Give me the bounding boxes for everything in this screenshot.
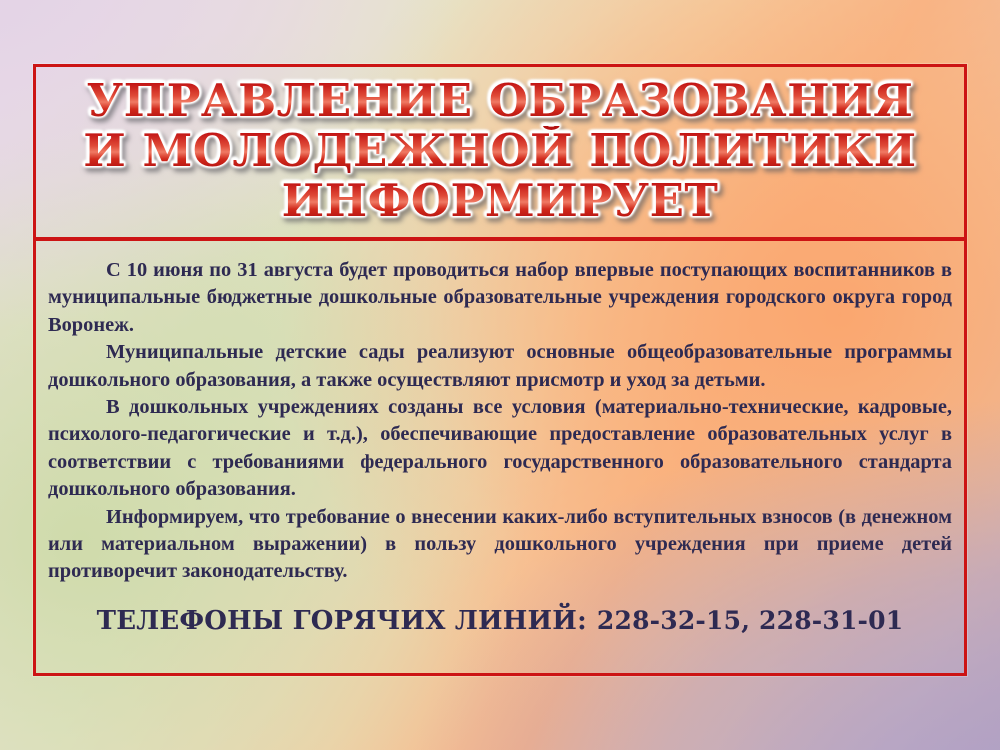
poster-outer-frame: УПРАВЛЕНИЕ ОБРАЗОВАНИЯ И МОЛОДЕЖНОЙ ПОЛИ…: [33, 64, 967, 676]
poster-title-line-2: И МОЛОДЕЖНОЙ ПОЛИТИКИ: [83, 126, 916, 176]
poster-body: С 10 июня по 31 августа будет проводитьс…: [36, 245, 964, 673]
hotline-row: ТЕЛЕФОНЫ ГОРЯЧИХ ЛИНИЙ:228-32-15, 228-31…: [48, 606, 952, 636]
poster-title-line-1: УПРАВЛЕНИЕ ОБРАЗОВАНИЯ: [87, 76, 914, 126]
poster-title-block: УПРАВЛЕНИЕ ОБРАЗОВАНИЯ И МОЛОДЕЖНОЙ ПОЛИ…: [36, 67, 964, 241]
poster-paragraph-1: С 10 июня по 31 августа будет проводитьс…: [48, 257, 952, 339]
hotline-numbers: 228-32-15, 228-31-01: [597, 606, 903, 635]
poster-title-line-3: ИНФОРМИРУЕТ: [282, 176, 719, 226]
poster-paragraph-2: Муниципальные детские сады реализуют осн…: [48, 339, 952, 394]
hotline-label: ТЕЛЕФОНЫ ГОРЯЧИХ ЛИНИЙ:: [97, 606, 587, 636]
poster-paragraph-4: Информируем, что требование о внесении к…: [48, 504, 952, 586]
poster-paragraph-3: В дошкольных учреждениях созданы все усл…: [48, 394, 952, 504]
poster-canvas: УПРАВЛЕНИЕ ОБРАЗОВАНИЯ И МОЛОДЕЖНОЙ ПОЛИ…: [0, 0, 1000, 750]
